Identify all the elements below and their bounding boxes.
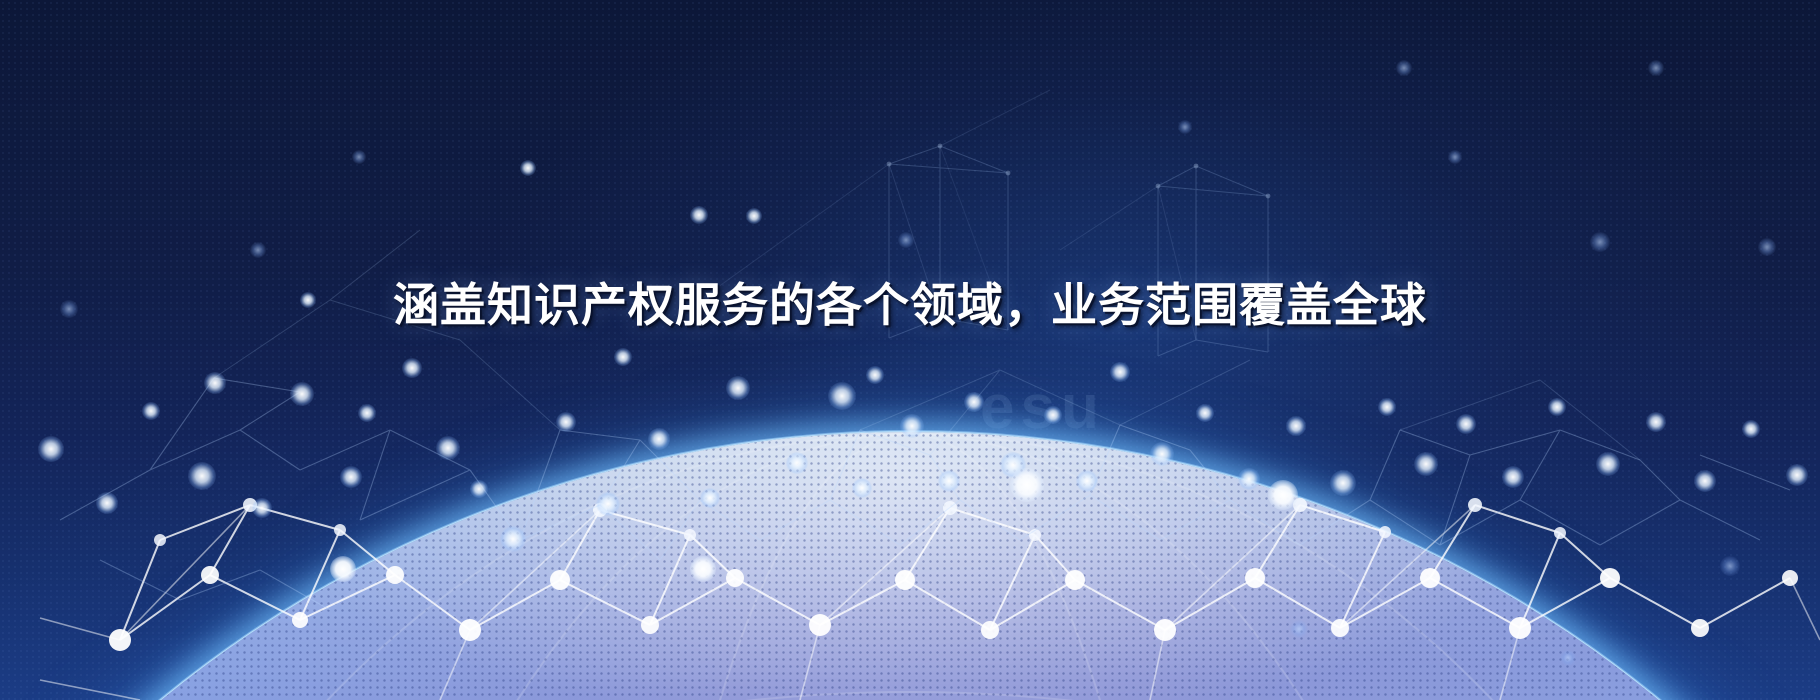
headline-container: 涵盖知识产权服务的各个领域，业务范围覆盖全球	[0, 282, 1820, 328]
hero-banner: esu	[0, 0, 1820, 700]
network-constellation-sky	[0, 0, 1820, 700]
page-title: 涵盖知识产权服务的各个领域，业务范围覆盖全球	[393, 282, 1427, 328]
